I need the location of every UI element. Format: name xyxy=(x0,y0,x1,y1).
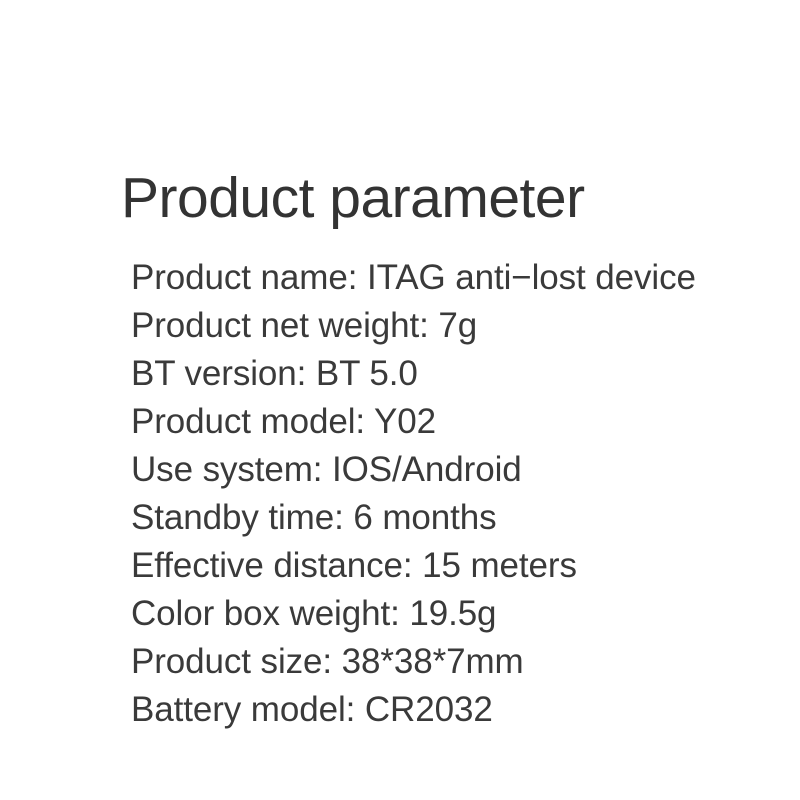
list-item: Use system: IOS/Android xyxy=(131,446,731,494)
list-item: Effective distance: 15 meters xyxy=(131,542,731,590)
specification-list: Product name: ITAG anti−lost device Prod… xyxy=(131,254,731,734)
list-item: Product model: Y02 xyxy=(131,398,731,446)
product-parameter-page: Product parameter Product name: ITAG ant… xyxy=(0,0,800,800)
list-item: Standby time: 6 months xyxy=(131,494,731,542)
list-item: Color box weight: 19.5g xyxy=(131,590,731,638)
list-item: Product name: ITAG anti−lost device xyxy=(131,254,731,302)
list-item: Product net weight: 7g xyxy=(131,302,731,350)
page-title: Product parameter xyxy=(121,170,585,227)
list-item: Battery model: CR2032 xyxy=(131,686,731,734)
list-item: BT version: BT 5.0 xyxy=(131,350,731,398)
list-item: Product size: 38*38*7mm xyxy=(131,638,731,686)
